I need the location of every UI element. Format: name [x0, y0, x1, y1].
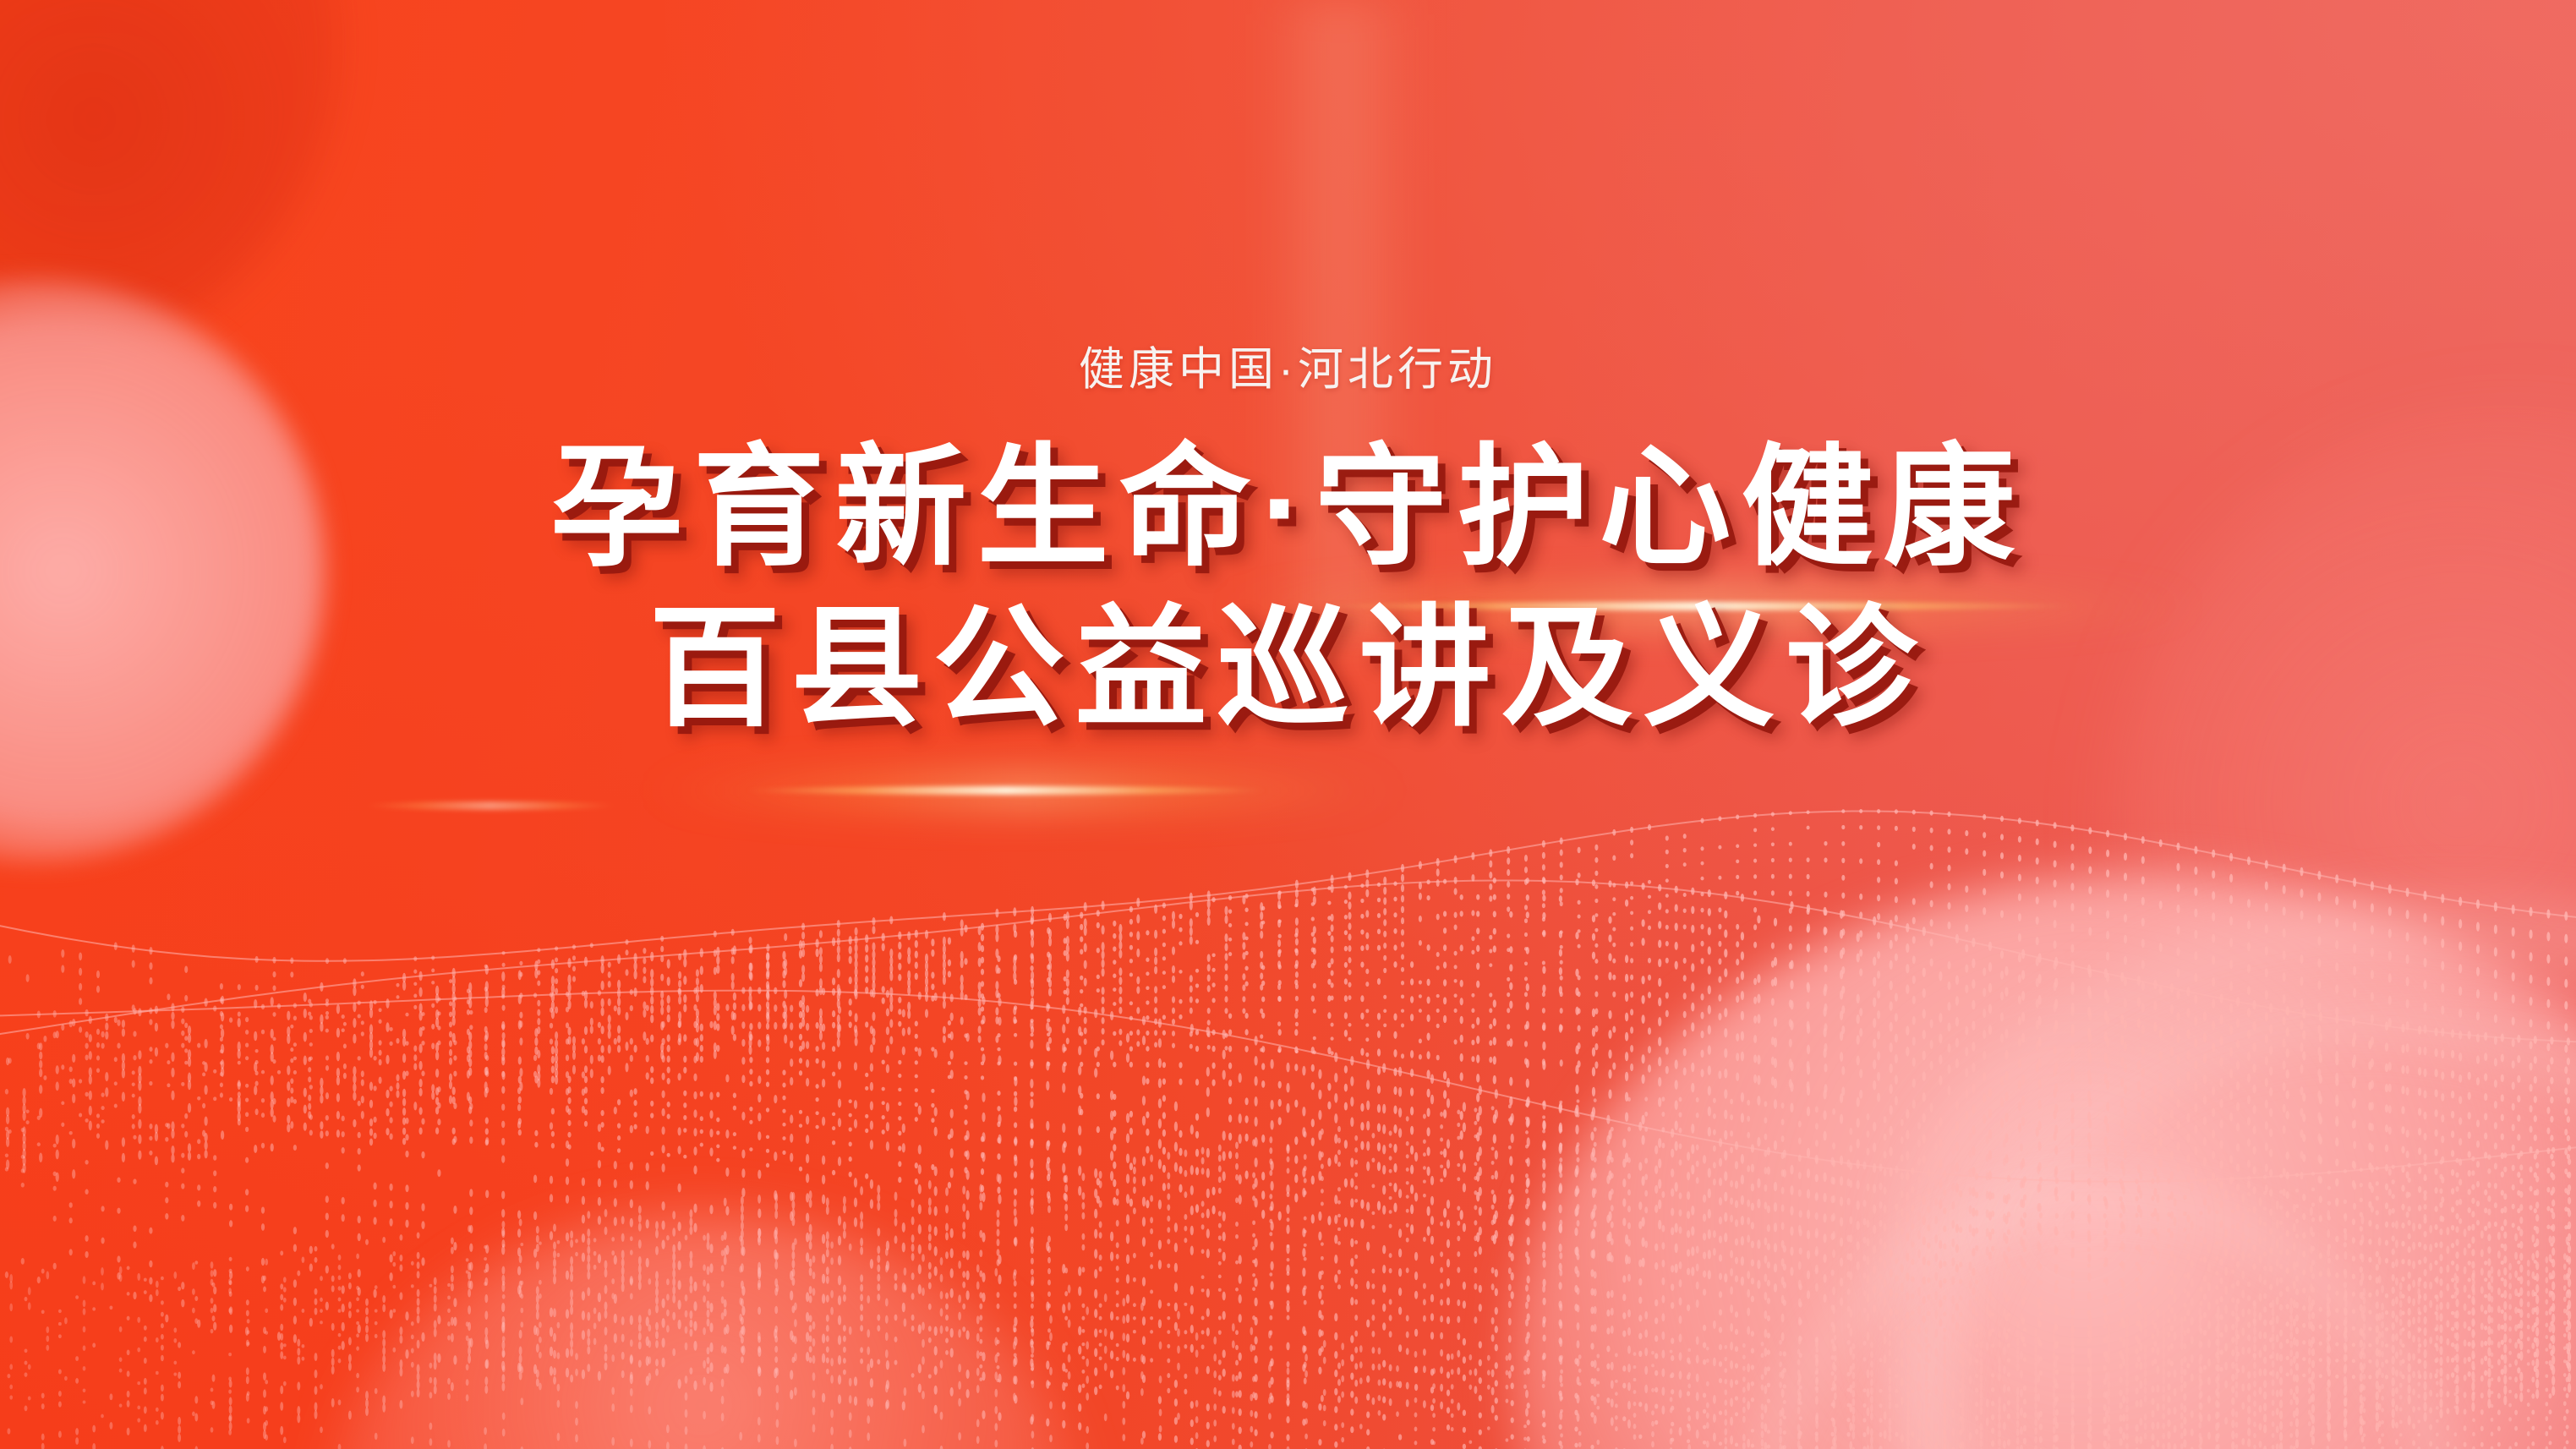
poster-text-block: 健康中国·河北行动 孕育新生命·守护心健康 百县公益巡讲及义诊 — [0, 0, 2576, 1449]
poster-subtitle: 健康中国·河北行动 — [1079, 331, 1497, 398]
poster-title-line-1: 孕育新生命·守护心健康 — [551, 442, 2026, 574]
poster-title-line-2: 百县公益巡讲及义诊 — [649, 603, 1928, 735]
poster-banner: 健康中国·河北行动 孕育新生命·守护心健康 百县公益巡讲及义诊 — [0, 0, 2576, 1449]
